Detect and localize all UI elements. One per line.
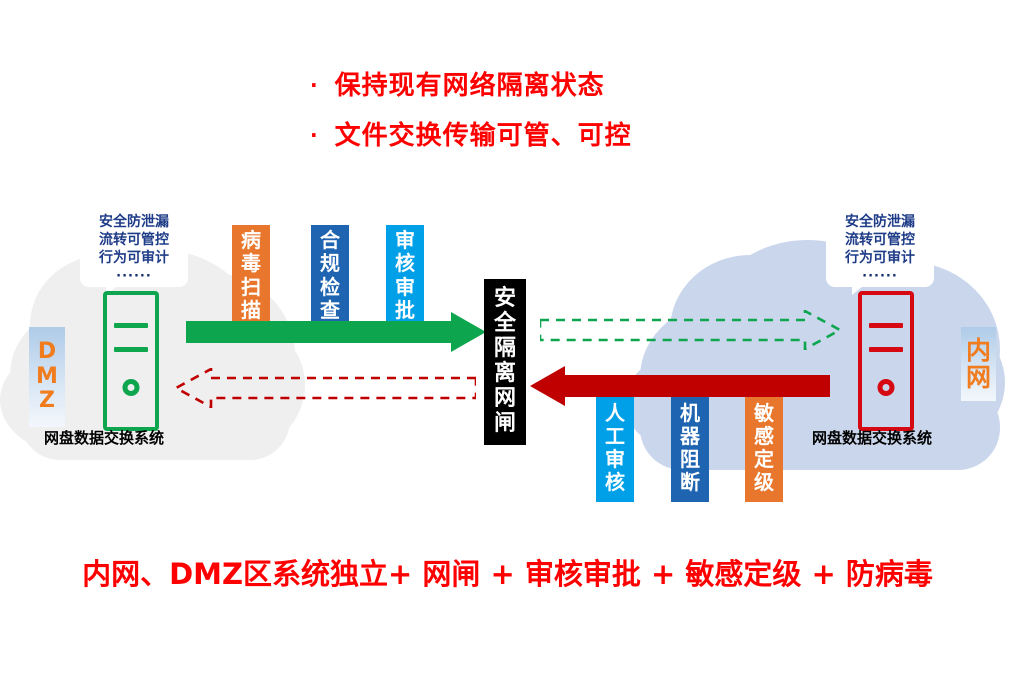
zone-intranet-char-1: 内: [966, 337, 991, 364]
vertical-glyph: 离: [494, 362, 516, 387]
bullet-text-2: 文件交换传输可管、可控: [335, 122, 632, 152]
callout-left-line-1: 安全防泄漏: [99, 213, 169, 231]
process-box-sensitivity-grading[interactable]: 敏感定级: [745, 394, 783, 502]
server-power-icon: [123, 379, 140, 396]
arrow-return-solid: [530, 366, 830, 406]
process-box-compliance-check[interactable]: 合规检查: [311, 225, 349, 326]
zone-label-intranet: 内 网: [961, 327, 996, 401]
server-label-intranet: 网盘数据交换系统: [812, 427, 932, 448]
vertical-glyph: 阻: [680, 448, 700, 471]
vertical-glyph: 合: [320, 229, 340, 252]
callout-bubble-intranet: 安全防泄漏 流转可管控 行为可审计 ······: [826, 206, 934, 287]
callout-bubble-dmz: 安全防泄漏 流转可管控 行为可审计 ······: [80, 206, 188, 287]
vertical-glyph: 隔: [494, 337, 516, 362]
vertical-glyph: 规: [320, 252, 340, 275]
vertical-glyph: 闸: [494, 412, 516, 437]
process-box-sensitivity-grading-label: 敏感定级: [754, 402, 774, 495]
server-power-icon: [878, 379, 895, 396]
callout-right-line-3: 行为可审计: [845, 249, 915, 267]
process-box-compliance-check-label: 合规检查: [320, 229, 340, 322]
bullet-marker-icon: ·: [310, 125, 319, 145]
server-bar-icon: [869, 347, 903, 352]
process-box-manual-review[interactable]: 人工审核: [596, 394, 634, 502]
vertical-glyph: 病: [241, 229, 261, 252]
server-bar-icon: [114, 323, 148, 328]
diagram-canvas: · 保持现有网络隔离状态 · 文件交换传输可管、可控 D M Z 内 网: [0, 0, 1015, 675]
bullet-text-1: 保持现有网络隔离状态: [335, 72, 605, 102]
bullet-item-2: · 文件交换传输可管、可控: [310, 122, 830, 152]
bullet-marker-icon: ·: [310, 75, 319, 95]
process-box-review-approval-label: 审核审批: [395, 229, 415, 322]
process-box-virus-scan-label: 病毒扫描: [241, 229, 261, 322]
callout-left-line-2: 流转可管控: [99, 231, 169, 249]
vertical-glyph: 扫: [241, 276, 261, 299]
bullet-list: · 保持现有网络隔离状态 · 文件交换传输可管、可控: [310, 72, 830, 172]
vertical-glyph: 器: [680, 425, 700, 448]
security-gateway-label: 安全隔离网闸: [494, 287, 516, 436]
vertical-glyph: 感: [754, 425, 774, 448]
server-label-dmz: 网盘数据交换系统: [44, 427, 164, 448]
security-gateway-box[interactable]: 安全隔离网闸: [484, 279, 526, 445]
vertical-glyph: 级: [754, 471, 774, 494]
arrow-return-dashed: [176, 368, 476, 408]
server-bar-icon: [869, 323, 903, 328]
zone-dmz-char-3: Z: [39, 389, 55, 414]
server-bar-icon: [114, 347, 148, 352]
zone-dmz-char-1: D: [38, 340, 56, 365]
process-box-machine-block[interactable]: 机器阻断: [671, 394, 709, 502]
vertical-glyph: 审: [395, 276, 415, 299]
zone-label-dmz: D M Z: [29, 327, 65, 427]
vertical-glyph: 定: [754, 448, 774, 471]
arrow-inbound-dashed: [540, 310, 840, 350]
arrow-outbound-solid: [186, 312, 486, 352]
vertical-glyph: 断: [680, 471, 700, 494]
process-box-review-approval[interactable]: 审核审批: [386, 225, 424, 326]
callout-left-line-3: 行为可审计: [99, 249, 169, 267]
bullet-item-1: · 保持现有网络隔离状态: [310, 72, 830, 102]
server-icon-dmz: [103, 291, 159, 431]
vertical-glyph: 安: [494, 287, 516, 312]
callout-right-line-1: 安全防泄漏: [845, 213, 915, 231]
vertical-glyph: 检: [320, 276, 340, 299]
server-icon-intranet: [858, 291, 914, 431]
vertical-glyph: 毒: [241, 252, 261, 275]
process-box-virus-scan[interactable]: 病毒扫描: [232, 225, 270, 326]
vertical-glyph: 核: [395, 252, 415, 275]
vertical-glyph: 网: [494, 387, 516, 412]
zone-intranet-char-2: 网: [966, 364, 991, 391]
vertical-glyph: 全: [494, 312, 516, 337]
vertical-glyph: 审: [395, 229, 415, 252]
zone-dmz-char-2: M: [36, 365, 58, 390]
vertical-glyph: 工: [605, 425, 625, 448]
process-box-manual-review-label: 人工审核: [605, 402, 625, 495]
vertical-glyph: 审: [605, 448, 625, 471]
callout-right-line-2: 流转可管控: [845, 231, 915, 249]
vertical-glyph: 核: [605, 471, 625, 494]
process-box-machine-block-label: 机器阻断: [680, 402, 700, 495]
footer-summary: 内网、DMZ区系统独立+ 网闸 + 审核审批 + 敏感定级 + 防病毒: [0, 551, 1015, 593]
